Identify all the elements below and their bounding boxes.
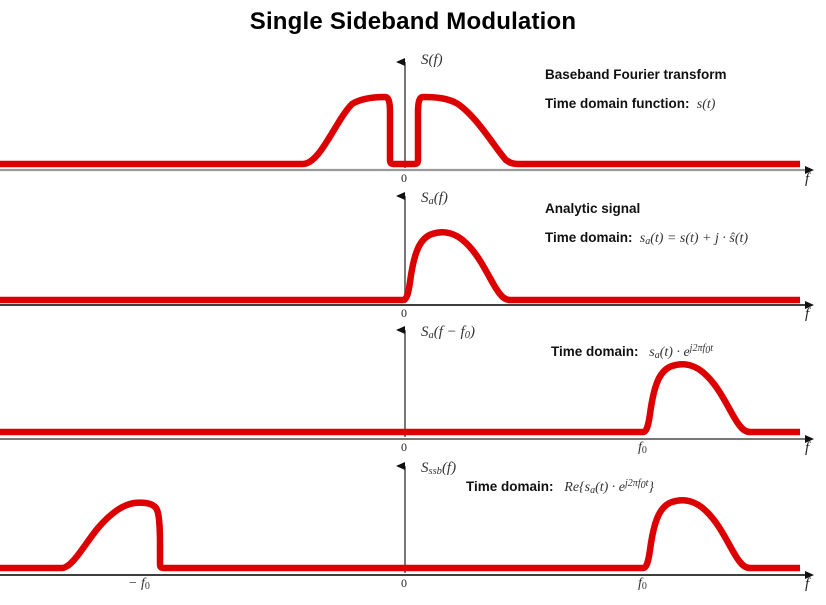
tick-f0-ssb: f0: [638, 576, 647, 592]
ssb-spectrum-figure: [0, 0, 826, 605]
tick-neg-f0-ssb: − f0: [128, 576, 150, 592]
y-axis-label-ssb: Sssb(f): [421, 460, 456, 477]
x-axis-label-baseband: f: [805, 171, 809, 188]
y-axis-label-shifted-analytic: Sa(f − f0): [421, 324, 475, 341]
curve-shifted-analytic: [0, 364, 800, 432]
x-axis-label-ssb: f: [805, 576, 809, 593]
y-axis-label-analytic: Sa(f): [421, 190, 448, 207]
panel-ssb: [0, 466, 806, 575]
annotation-ssb-time-domain: Time domain: Re{sa(t) · ej2πf0t}: [466, 478, 654, 496]
annotation-analytic-title: Analytic signal: [545, 201, 640, 216]
x-axis-label-shifted: f: [805, 440, 809, 457]
annotation-baseband-time-domain: Time domain function: s(t): [545, 96, 715, 113]
tick-zero-ssb: 0: [401, 576, 407, 591]
tick-zero-baseband: 0: [401, 171, 407, 186]
tick-f0-shifted: f0: [638, 440, 647, 456]
x-axis-label-analytic: f: [805, 306, 809, 323]
tick-zero-analytic: 0: [401, 306, 407, 321]
y-axis-label-baseband: S(f): [421, 52, 443, 69]
curve-ssb: [0, 500, 800, 568]
annotation-analytic-time-domain: Time domain: sa(t) = s(t) + j · ŝ(t): [545, 230, 748, 247]
annotation-baseband-title: Baseband Fourier transform: [545, 67, 727, 82]
tick-zero-shifted: 0: [401, 440, 407, 455]
panel-analytic: [0, 196, 806, 305]
annotation-shifted-time-domain: Time domain: sa(t) · ej2πf0t: [551, 343, 713, 361]
